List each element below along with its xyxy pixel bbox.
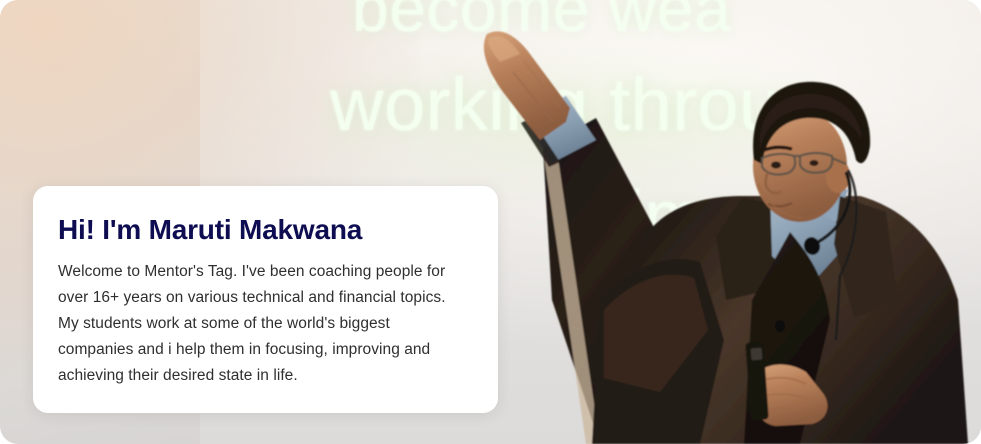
projected-slide-line-2: working throug (330, 62, 822, 147)
intro-card: Hi! I'm Maruti Makwana Welcome to Mentor… (33, 186, 498, 413)
projected-slide-line-3: ime (628, 176, 746, 258)
card-body-text: Welcome to Mentor's Tag. I've been coach… (58, 259, 468, 389)
card-title: Hi! I'm Maruti Makwana (58, 215, 468, 246)
projected-slide-line-1: become wea (352, 0, 731, 46)
hero-banner: become wea working throug ime (0, 0, 981, 444)
